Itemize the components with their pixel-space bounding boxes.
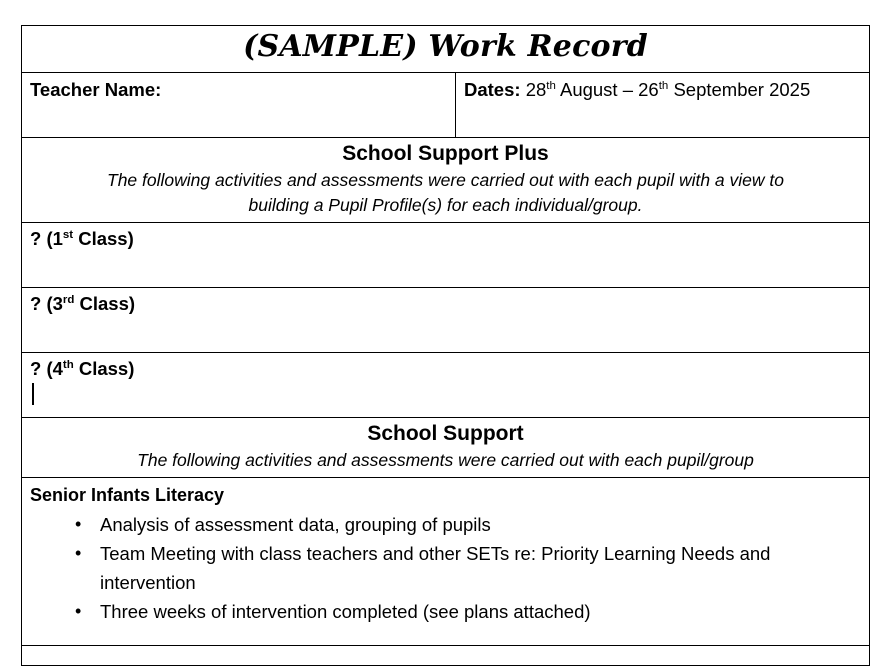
document-title-cell: (SAMPLE) Work Record (22, 26, 870, 73)
table-row-next-partial (22, 646, 870, 666)
class-entry-cell-2[interactable]: ? (3rd Class) (22, 288, 870, 353)
dates-end-ordinal: th (659, 80, 669, 92)
activity-entry-cell[interactable]: Senior Infants Literacy • Analysis of as… (22, 478, 870, 646)
next-entry-cell[interactable] (22, 646, 870, 666)
class-ordinal-1: st (63, 229, 73, 241)
table-row-info: Teacher Name: Dates: 28th August – 26th … (22, 73, 870, 138)
dates-cell[interactable]: Dates: 28th August – 26th September 2025 (456, 73, 870, 138)
list-item-text: Three weeks of intervention completed (s… (100, 601, 591, 622)
work-record-table: (SAMPLE) Work Record Teacher Name: Dates… (21, 25, 870, 666)
school-support-plus-subtitle-line1: The following activities and assessments… (26, 168, 865, 193)
class-ordinal-3: th (63, 359, 74, 371)
page-title: (SAMPLE) Work Record (243, 29, 648, 64)
bullet-icon: • (75, 510, 81, 539)
school-support-plus-banner: School Support Plus The following activi… (22, 138, 870, 223)
bullet-icon: • (75, 597, 81, 626)
dates-start-day: 28 (526, 79, 547, 100)
school-support-banner: School Support The following activities … (22, 418, 870, 478)
table-row-activity-entry: Senior Infants Literacy • Analysis of as… (22, 478, 870, 646)
table-row-title: (SAMPLE) Work Record (22, 26, 870, 73)
table-row-school-support-plus-banner: School Support Plus The following activi… (22, 138, 870, 223)
table-row-class-1: ? (1st Class) (22, 223, 870, 288)
class-entry-cell-3[interactable]: ? (4th Class) (22, 353, 870, 418)
activity-heading: Senior Infants Literacy (30, 483, 863, 507)
bullet-icon: • (75, 539, 81, 568)
table-row-school-support-banner: School Support The following activities … (22, 418, 870, 478)
text-cursor-caret (32, 383, 34, 405)
table-row-class-2: ? (3rd Class) (22, 288, 870, 353)
activity-bullet-list: • Analysis of assessment data, grouping … (30, 510, 863, 626)
document-page: (SAMPLE) Work Record Teacher Name: Dates… (0, 0, 890, 666)
table-row-class-3: ? (4th Class) (22, 353, 870, 418)
class-label-3: ? (4th Class) (30, 358, 134, 379)
class-entry-cell-1[interactable]: ? (1st Class) (22, 223, 870, 288)
dates-end: September 2025 (668, 79, 810, 100)
dates-middle: August – 26 (556, 79, 659, 100)
list-item-text: Team Meeting with class teachers and oth… (100, 543, 770, 593)
dates-value: 28th August – 26th September 2025 (526, 79, 811, 100)
teacher-name-label: Teacher Name: (30, 79, 161, 100)
list-item-text: Analysis of assessment data, grouping of… (100, 514, 491, 535)
dates-start-ordinal: th (546, 80, 556, 92)
school-support-plus-subtitle-line2: building a Pupil Profile(s) for each ind… (26, 193, 865, 218)
list-item: • Team Meeting with class teachers and o… (30, 539, 863, 597)
list-item: • Three weeks of intervention completed … (30, 597, 863, 626)
list-item: • Analysis of assessment data, grouping … (30, 510, 863, 539)
class-label-2: ? (3rd Class) (30, 293, 135, 314)
school-support-subtitle-line1: The following activities and assessments… (26, 448, 865, 473)
school-support-plus-title: School Support Plus (26, 140, 865, 168)
class-label-1: ? (1st Class) (30, 228, 134, 249)
school-support-title: School Support (26, 420, 865, 448)
teacher-name-cell[interactable]: Teacher Name: (22, 73, 456, 138)
class-ordinal-2: rd (63, 294, 74, 306)
dates-label: Dates: (464, 79, 521, 100)
